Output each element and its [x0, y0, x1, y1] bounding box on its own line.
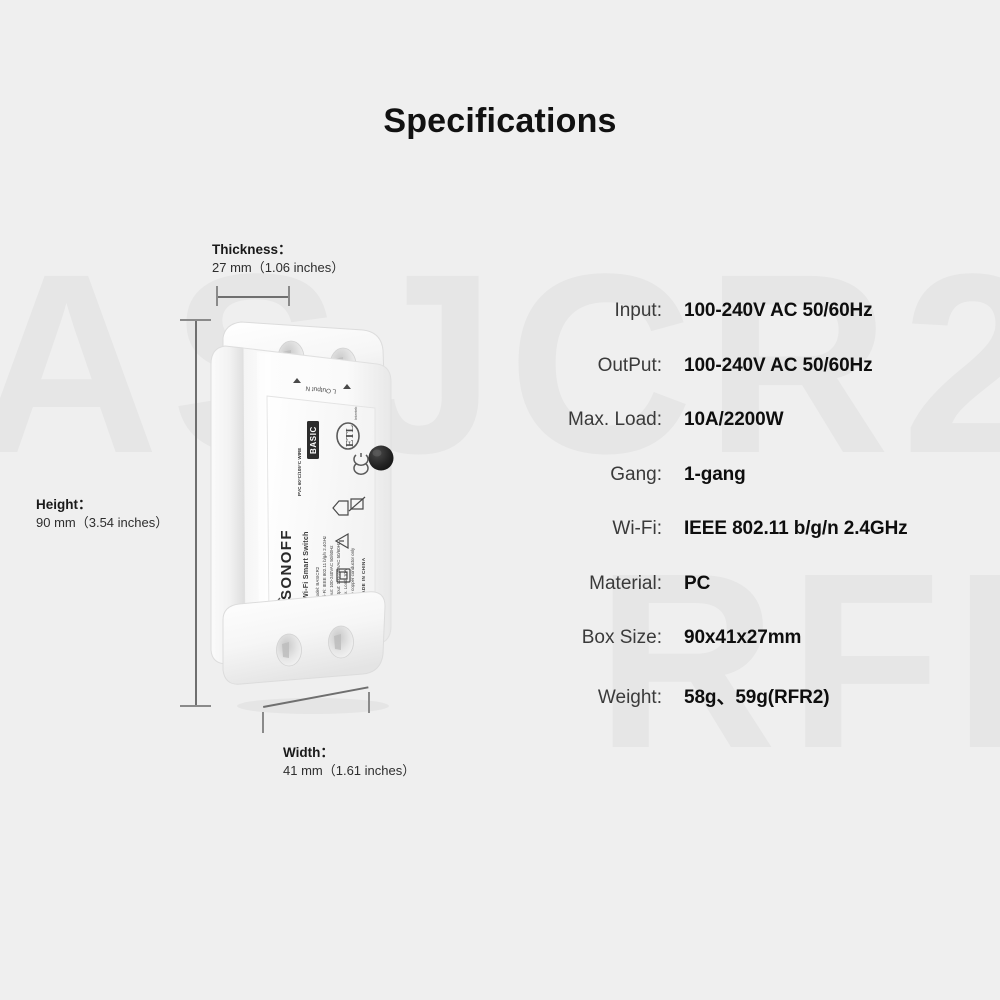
- spec-value-wifi: IEEE 802.11 b/g/n 2.4GHz: [662, 518, 908, 540]
- spec-value-material: PC: [662, 573, 710, 595]
- spec-key-input: Input:: [540, 300, 662, 322]
- width-title: Width：: [283, 744, 415, 762]
- svg-text:ETL: ETL: [344, 425, 356, 447]
- spec-value-max-load: 10A/2200W: [662, 409, 783, 431]
- spec-row-output: OutPut: 100-240V AC 50/60Hz: [540, 355, 980, 410]
- spec-row-wifi: Wi-Fi: IEEE 802.11 b/g/n 2.4GHz: [540, 518, 980, 573]
- spec-row-material: Material: PC: [540, 573, 980, 628]
- width-value: 41 mm（1.61 inches）: [283, 762, 415, 780]
- thickness-dimension-line: [217, 296, 289, 298]
- height-tick-bottom: [180, 705, 211, 707]
- spec-key-material: Material:: [540, 573, 662, 595]
- width-tick-right: [368, 692, 370, 713]
- device-shadow: [237, 698, 389, 714]
- spec-row-gang: Gang: 1-gang: [540, 464, 980, 519]
- thickness-value: 27 mm（1.06 inches）: [212, 259, 344, 277]
- spec-value-input: 100-240V AC 50/60Hz: [662, 300, 873, 322]
- spec-row-max-load: Max. Load: 10A/2200W: [540, 409, 980, 464]
- svg-text:Input: 100-240VAC 50/60Hz: Input: 100-240VAC 50/60Hz: [329, 545, 334, 600]
- spec-value-gang: 1-gang: [662, 464, 746, 486]
- svg-text:Intertek: Intertek: [353, 407, 358, 420]
- thickness-title: Thickness：: [212, 241, 344, 259]
- spec-key-max-load: Max. Load:: [540, 409, 662, 431]
- width-tick-left: [262, 712, 264, 733]
- svg-text:Wi-Fi: IEEE 802.11 b/g/n 2.4GH: Wi-Fi: IEEE 802.11 b/g/n 2.4GHz: [322, 536, 327, 600]
- specifications-list: Input: 100-240V AC 50/60Hz OutPut: 100-2…: [540, 300, 980, 736]
- width-dimension-label: Width： 41 mm（1.61 inches）: [283, 744, 415, 780]
- height-dimension-label: Height： 90 mm（3.54 inches）: [36, 496, 168, 532]
- spec-row-box-size: Box Size: 90x41x27mm: [540, 627, 980, 682]
- sonoff-basic-device-illustration: SONOFF Wi-Fi Smart Switch Model: BASICR2…: [205, 308, 420, 718]
- height-dimension-line: [195, 320, 197, 706]
- svg-text:BASIC: BASIC: [309, 426, 318, 454]
- height-value: 90 mm（3.54 inches）: [36, 514, 168, 532]
- svg-text:PVC 60°C/105°C WIRE: PVC 60°C/105°C WIRE: [297, 448, 302, 496]
- height-title: Height：: [36, 496, 168, 514]
- spec-value-output: 100-240V AC 50/60Hz: [662, 355, 873, 377]
- basic-badge: BASIC: [307, 421, 319, 459]
- device-label-panel: SONOFF Wi-Fi Smart Switch Model: BASICR2…: [267, 396, 375, 620]
- device-bottom-cap: [223, 592, 385, 684]
- thickness-tick-right: [288, 286, 290, 306]
- height-tick-top: [180, 319, 211, 321]
- svg-text:Model: BASICR2: Model: BASICR2: [315, 566, 320, 600]
- spec-value-box-size: 90x41x27mm: [662, 627, 801, 649]
- spec-key-weight: Weight:: [540, 687, 662, 709]
- spec-row-weight: Weight: 58g、59g(RFR2): [540, 682, 980, 737]
- thickness-dimension-label: Thickness： 27 mm（1.06 inches）: [212, 241, 344, 277]
- product-figure: SONOFF Wi-Fi Smart Switch Model: BASICR2…: [0, 0, 520, 1000]
- spec-key-output: OutPut:: [540, 355, 662, 377]
- sonoff-logo-text: SONOFF: [278, 529, 295, 600]
- svg-text:Use copper conductor only: Use copper conductor only: [350, 547, 355, 600]
- spec-key-wifi: Wi-Fi:: [540, 518, 662, 540]
- spec-value-weight: 58g、59g(RFR2): [662, 682, 829, 709]
- spec-row-input: Input: 100-240V AC 50/60Hz: [540, 300, 980, 355]
- specifications-page: ASJCR2 RFR Specifications: [0, 0, 1000, 1000]
- pairing-button: [369, 446, 394, 471]
- spec-key-gang: Gang:: [540, 464, 662, 486]
- spec-key-box-size: Box Size:: [540, 627, 662, 649]
- product-name-text: Wi-Fi Smart Switch: [301, 531, 310, 600]
- thickness-tick-left: [216, 286, 218, 306]
